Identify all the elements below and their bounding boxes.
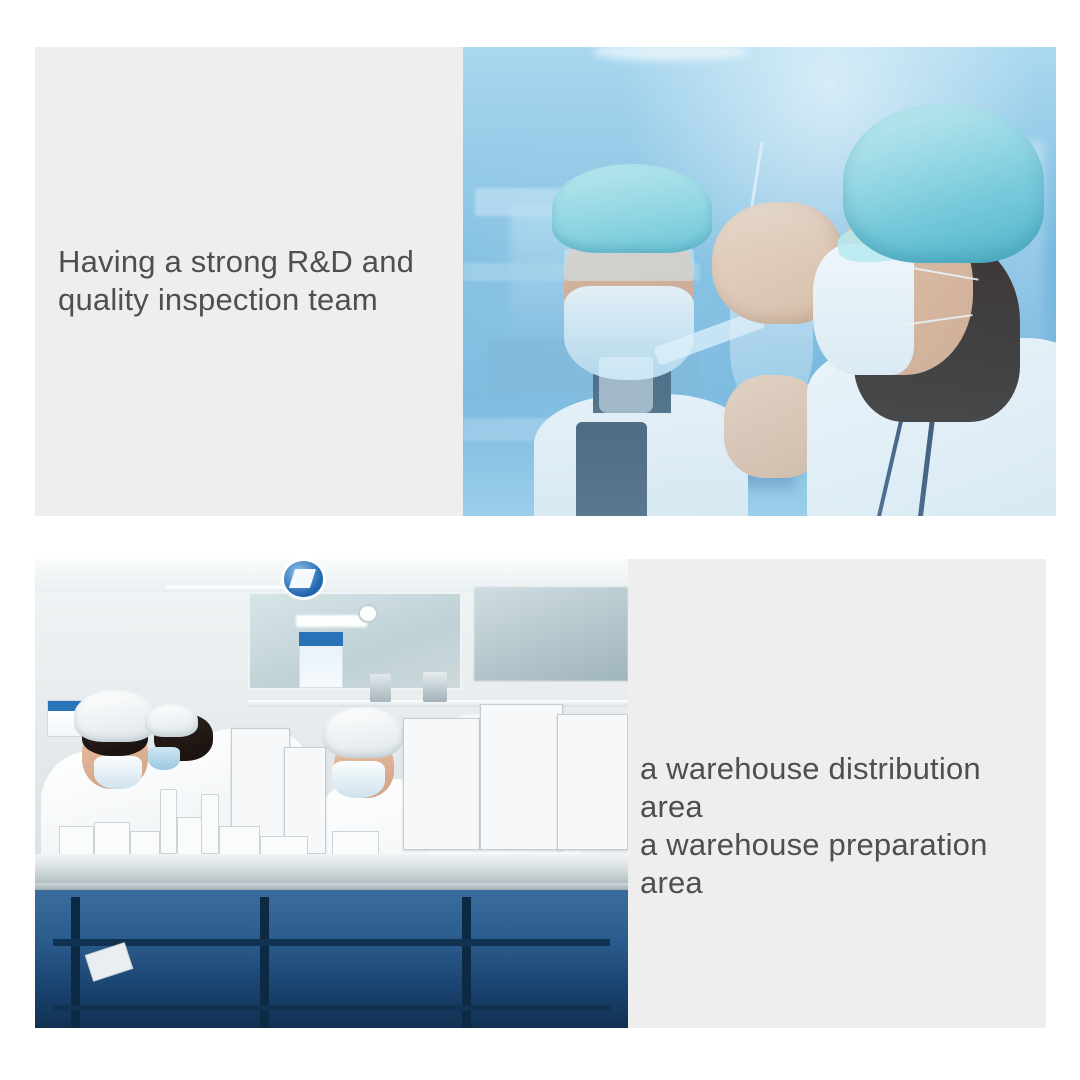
poster-canvas: Having a strong R&D and quality inspecti… [0,0,1080,1080]
caption-warehouse: a warehouse distribution area a warehous… [640,750,1050,902]
technician-right-face-mask [813,244,914,375]
carton-stack-1 [403,718,480,849]
worker-b-hair-net [145,704,198,737]
carton-stack-2 [480,704,563,849]
worker-a-face-mask [94,756,141,789]
steel-pot-2 [423,672,447,702]
carton-stack-3 [557,714,628,850]
technician-left-hair-net [552,164,712,253]
worker-c-hair-net [323,707,403,759]
lab-inspection-photo [463,47,1056,516]
carton-bottle-1 [160,789,178,855]
technician-right-hair-net [843,103,1045,262]
worker-c-face-mask [332,761,385,799]
window-light-reflection [296,615,367,627]
wall-poster-header [299,632,343,646]
carton-bottle-2 [201,794,219,855]
caption-rnd-quality: Having a strong R&D and quality inspecti… [58,243,448,319]
technician-left-inner-shirt [576,422,647,516]
interior-window-right [474,587,628,681]
worker-b-face-mask [148,747,181,770]
steel-pot-1 [370,674,391,702]
table-cross-bar-lower [53,1005,610,1012]
technician-left-goggles [564,249,694,282]
table-cross-bar [53,939,610,947]
warehouse-packing-photo [35,559,628,1028]
glass-beaker [599,357,652,413]
ceiling-duct [165,585,284,589]
worker-a-hair-net [74,690,157,742]
